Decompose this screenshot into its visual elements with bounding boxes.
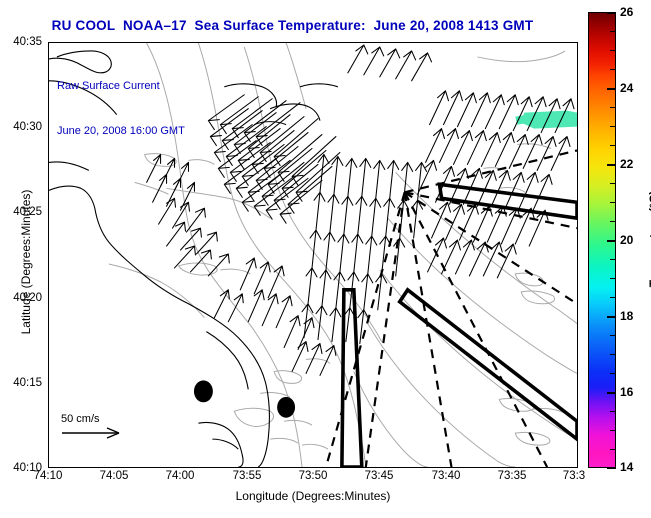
arrow-right-icon (61, 426, 125, 440)
annotation-line-2: June 20, 2008 16:00 GMT (57, 124, 185, 139)
annotation-line-1: Raw Surface Current (57, 79, 185, 94)
figure-canvas: RU COOL NOAA–17 Sea Surface Temperature:… (0, 0, 651, 518)
x-tick-8: 73:3 (563, 470, 585, 482)
colorbar-tick-14: 14 (620, 460, 633, 474)
x-tick-7: 73:35 (498, 470, 527, 482)
y-tick-1: 40:30 (4, 121, 42, 133)
sst-patch (515, 111, 577, 129)
x-tick-1: 74:05 (100, 470, 129, 482)
scale-bar-label: 50 cm/s (61, 413, 125, 425)
colorbar-tick-20: 20 (620, 233, 633, 247)
colorbar-tick-26: 26 (620, 5, 633, 19)
colorbar-tick-24: 24 (620, 81, 633, 95)
map-plot-area: Raw Surface Current June 20, 2008 16:00 … (48, 42, 578, 468)
surface-current-vectors (147, 45, 574, 375)
vector-scale-bar: 50 cm/s (61, 413, 125, 445)
y-axis-title: Latitude (Degrees:Minutes) (19, 152, 33, 372)
y-tick-4: 40:15 (4, 377, 42, 389)
x-tick-6: 73:40 (432, 470, 461, 482)
figure-title: RU COOL NOAA–17 Sea Surface Temperature:… (0, 18, 585, 33)
current-annotation: Raw Surface Current June 20, 2008 16:00 … (57, 49, 185, 169)
colorbar (588, 12, 616, 468)
x-tick-4: 73:50 (299, 470, 328, 482)
x-axis-title: Longitude (Degrees:Minutes) (48, 489, 578, 503)
colorbar-tick-18: 18 (620, 309, 633, 323)
colorbar-ticks (588, 12, 616, 468)
colorbar-tick-22: 22 (620, 157, 633, 171)
colorbar-tick-16: 16 (620, 385, 633, 399)
x-tick-3: 73:55 (233, 470, 262, 482)
y-tick-0: 40:35 (4, 36, 42, 48)
x-tick-2: 74:00 (166, 470, 195, 482)
y-tick-5: 40:10 (4, 462, 42, 474)
station-markers (194, 380, 295, 417)
x-tick-5: 73:45 (365, 470, 394, 482)
colorbar-title: Temperature (°C) (647, 149, 651, 329)
